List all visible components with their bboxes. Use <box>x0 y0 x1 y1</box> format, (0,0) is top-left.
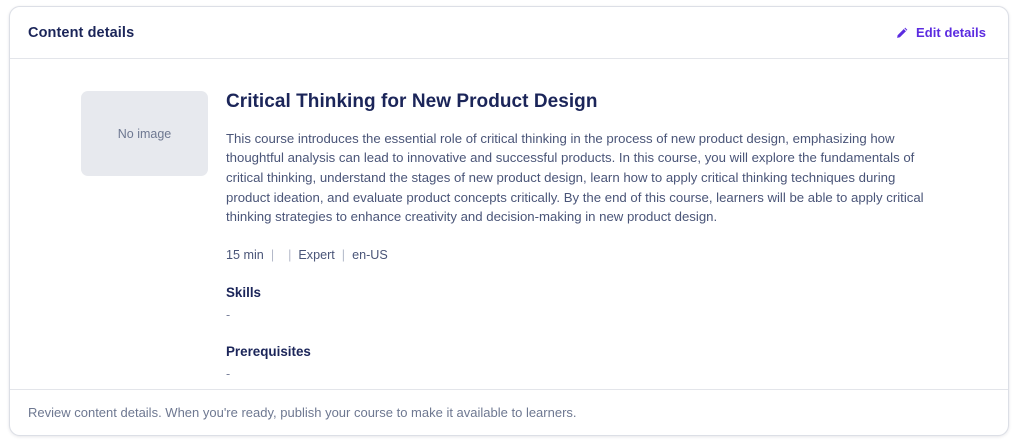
course-description: This course introduces the essential rol… <box>226 129 938 227</box>
page-title: Content details <box>28 25 134 41</box>
edit-details-label: Edit details <box>916 25 986 40</box>
metadata-duration: 15 min <box>226 248 264 262</box>
prerequisites-heading: Prerequisites <box>226 344 938 359</box>
card-body: No image Critical Thinking for New Produ… <box>10 59 1008 389</box>
skills-value: - <box>226 309 938 321</box>
footer-help-text: Review content details. When you're read… <box>28 405 577 420</box>
course-title: Critical Thinking for New Product Design <box>226 91 938 114</box>
card-header: Content details Edit details <box>10 7 1008 59</box>
content-details-card: Content details Edit details No image Cr… <box>9 6 1009 436</box>
course-metadata: 15 min | | Expert | en-US <box>226 248 938 262</box>
thumbnail-placeholder: No image <box>81 91 208 176</box>
edit-details-button[interactable]: Edit details <box>895 25 986 40</box>
card-footer: Review content details. When you're read… <box>10 389 1008 435</box>
thumbnail-column: No image <box>10 91 226 389</box>
metadata-separator-2: | <box>281 248 298 262</box>
metadata-language: en-US <box>352 248 388 262</box>
metadata-level: Expert <box>298 248 334 262</box>
metadata-separator-3: | <box>335 248 352 262</box>
pencil-icon <box>895 26 909 40</box>
skills-heading: Skills <box>226 285 938 300</box>
no-image-label: No image <box>118 127 172 141</box>
metadata-separator-1: | <box>264 248 281 262</box>
content-column: Critical Thinking for New Product Design… <box>226 91 1008 389</box>
prerequisites-value: - <box>226 368 938 380</box>
